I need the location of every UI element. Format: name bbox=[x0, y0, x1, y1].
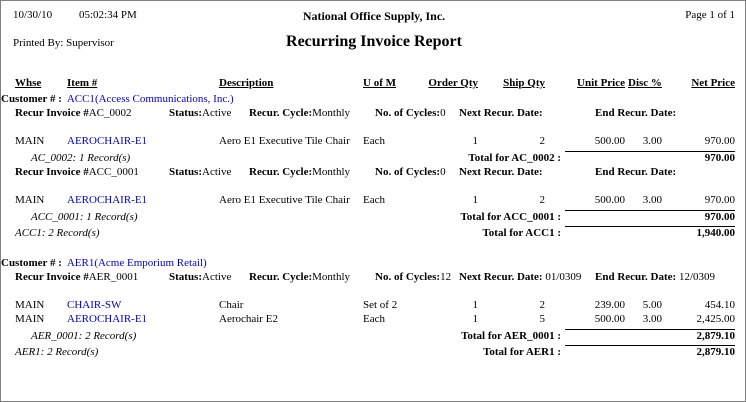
no-of-cycles-value: 0 bbox=[440, 107, 446, 119]
recur-invoice-number: AC_0002 bbox=[89, 107, 132, 119]
customer-code[interactable]: AER1 bbox=[67, 257, 95, 269]
no-of-cycles-label: No. of Cycles: bbox=[375, 271, 440, 283]
status-value: Active bbox=[202, 166, 231, 178]
customer-total-value: 2,879.10 bbox=[677, 346, 735, 358]
line-whse: MAIN bbox=[15, 299, 44, 311]
line-uofm: Set of 2 bbox=[363, 299, 397, 311]
invoice-total-label: Total for ACC_0001 : bbox=[141, 211, 561, 223]
recur-invoice-label: Recur Invoice # bbox=[15, 271, 89, 283]
recur-cycle-label: Recur. Cycle: bbox=[249, 107, 312, 119]
line-description: Chair bbox=[219, 299, 243, 311]
customer-no-label: Customer # : bbox=[1, 257, 62, 269]
no-of-cycles-value: 12 bbox=[440, 271, 451, 283]
recur-cycle-value: Monthly bbox=[312, 271, 350, 283]
line-net-price: 454.10 bbox=[677, 299, 735, 311]
customer-record-count: AER1: 2 Record(s) bbox=[15, 346, 98, 358]
report-page: 10/30/10 05:02:34 PM National Office Sup… bbox=[0, 0, 746, 402]
recur-invoice-number: AER_0001 bbox=[89, 271, 139, 283]
recur-cycle-value: Monthly bbox=[312, 166, 350, 178]
customer-total-label: Total for AER1 : bbox=[141, 346, 561, 358]
customer-name[interactable]: (Acme Emporium Retail) bbox=[94, 257, 206, 269]
line-description: Aero E1 Executive Tile Chair bbox=[219, 194, 350, 206]
status-value: Active bbox=[202, 107, 231, 119]
line-ship-qty: 2 bbox=[497, 194, 545, 206]
line-net-price: 970.00 bbox=[677, 135, 735, 147]
recur-invoice-number: ACC_0001 bbox=[89, 166, 139, 178]
no-of-cycles-label: No. of Cycles: bbox=[375, 107, 440, 119]
next-recur-date-label: Next Recur. Date: bbox=[459, 271, 543, 283]
next-recur-date-label: Next Recur. Date: bbox=[459, 166, 543, 178]
column-header-unit-price: Unit Price bbox=[575, 77, 625, 89]
line-uofm: Each bbox=[363, 313, 385, 325]
recur-invoice-label: Recur Invoice # bbox=[15, 107, 89, 119]
line-unit-price: 500.00 bbox=[567, 313, 625, 325]
line-item-number[interactable]: AEROCHAIR-E1 bbox=[67, 313, 147, 325]
page-title: Recurring Invoice Report bbox=[1, 33, 746, 51]
invoice-record-count: AER_0001: 2 Record(s) bbox=[31, 330, 136, 342]
line-order-qty: 1 bbox=[424, 313, 478, 325]
status-label: Status: bbox=[169, 166, 202, 178]
recur-cycle-label: Recur. Cycle: bbox=[249, 166, 312, 178]
line-order-qty: 1 bbox=[424, 194, 478, 206]
line-disc-pct: 3.00 bbox=[628, 135, 662, 147]
customer-header-row: Customer # : AER1(Acme Emporium Retail) bbox=[1, 257, 207, 269]
recur-cycle-label: Recur. Cycle: bbox=[249, 271, 312, 283]
customer-code[interactable]: ACC1 bbox=[67, 93, 95, 105]
line-item-number[interactable]: CHAIR-SW bbox=[67, 299, 121, 311]
end-recur-date-label: End Recur. Date: bbox=[595, 271, 676, 283]
end-recur-date-value: 12/0309 bbox=[676, 271, 715, 283]
line-item-number[interactable]: AEROCHAIR-E1 bbox=[67, 135, 147, 147]
next-recur-date-label: Next Recur. Date: bbox=[459, 107, 543, 119]
column-header-order-qty: Order Qty bbox=[424, 77, 478, 89]
invoice-record-count: ACC_0001: 1 Record(s) bbox=[31, 211, 138, 223]
end-recur-date-label: End Recur. Date: bbox=[595, 166, 676, 178]
page-number: Page 1 of 1 bbox=[1, 9, 735, 21]
line-disc-pct: 3.00 bbox=[628, 194, 662, 206]
line-whse: MAIN bbox=[15, 313, 44, 325]
invoice-record-count: AC_0002: 1 Record(s) bbox=[31, 152, 130, 164]
column-header-disc-pct: Disc % bbox=[628, 77, 668, 89]
status-label: Status: bbox=[169, 271, 202, 283]
line-order-qty: 1 bbox=[424, 135, 478, 147]
line-unit-price: 500.00 bbox=[567, 194, 625, 206]
customer-no-label: Customer # : bbox=[1, 93, 62, 105]
no-of-cycles-label: No. of Cycles: bbox=[375, 166, 440, 178]
customer-total-label: Total for ACC1 : bbox=[141, 227, 561, 239]
line-disc-pct: 3.00 bbox=[628, 313, 662, 325]
invoice-total-value: 2,879.10 bbox=[677, 330, 735, 342]
column-header-ship-qty: Ship Qty bbox=[501, 77, 545, 89]
line-uofm: Each bbox=[363, 194, 385, 206]
line-uofm: Each bbox=[363, 135, 385, 147]
line-whse: MAIN bbox=[15, 135, 44, 147]
column-header-uofm: U of M bbox=[363, 77, 396, 89]
line-order-qty: 1 bbox=[424, 299, 478, 311]
column-header-whse: Whse bbox=[15, 77, 41, 89]
line-whse: MAIN bbox=[15, 194, 44, 206]
invoice-total-label: Total for AC_0002 : bbox=[141, 152, 561, 164]
line-ship-qty: 5 bbox=[497, 313, 545, 325]
customer-total-value: 1,940.00 bbox=[677, 227, 735, 239]
next-recur-date-value: 01/0309 bbox=[543, 271, 582, 283]
customer-header-row: Customer # : ACC1(Access Communications,… bbox=[1, 93, 234, 105]
line-ship-qty: 2 bbox=[497, 135, 545, 147]
customer-name[interactable]: (Access Communications, Inc.) bbox=[95, 93, 234, 105]
line-item-number[interactable]: AEROCHAIR-E1 bbox=[67, 194, 147, 206]
line-disc-pct: 5.00 bbox=[628, 299, 662, 311]
line-description: Aerochair E2 bbox=[219, 313, 278, 325]
invoice-total-value: 970.00 bbox=[677, 211, 735, 223]
end-recur-date-label: End Recur. Date: bbox=[595, 107, 676, 119]
line-ship-qty: 2 bbox=[497, 299, 545, 311]
line-net-price: 970.00 bbox=[677, 194, 735, 206]
column-header-description: Description bbox=[219, 77, 273, 89]
customer-record-count: ACC1: 2 Record(s) bbox=[15, 227, 100, 239]
column-header-net-price: Net Price bbox=[691, 77, 735, 89]
recur-invoice-label: Recur Invoice # bbox=[15, 166, 89, 178]
column-header-item: Item # bbox=[67, 77, 97, 89]
line-unit-price: 500.00 bbox=[567, 135, 625, 147]
recur-cycle-value: Monthly bbox=[312, 107, 350, 119]
line-unit-price: 239.00 bbox=[567, 299, 625, 311]
invoice-total-value: 970.00 bbox=[677, 152, 735, 164]
status-label: Status: bbox=[169, 107, 202, 119]
no-of-cycles-value: 0 bbox=[440, 166, 446, 178]
line-net-price: 2,425.00 bbox=[677, 313, 735, 325]
status-value: Active bbox=[202, 271, 231, 283]
line-description: Aero E1 Executive Tile Chair bbox=[219, 135, 350, 147]
invoice-total-label: Total for AER_0001 : bbox=[141, 330, 561, 342]
